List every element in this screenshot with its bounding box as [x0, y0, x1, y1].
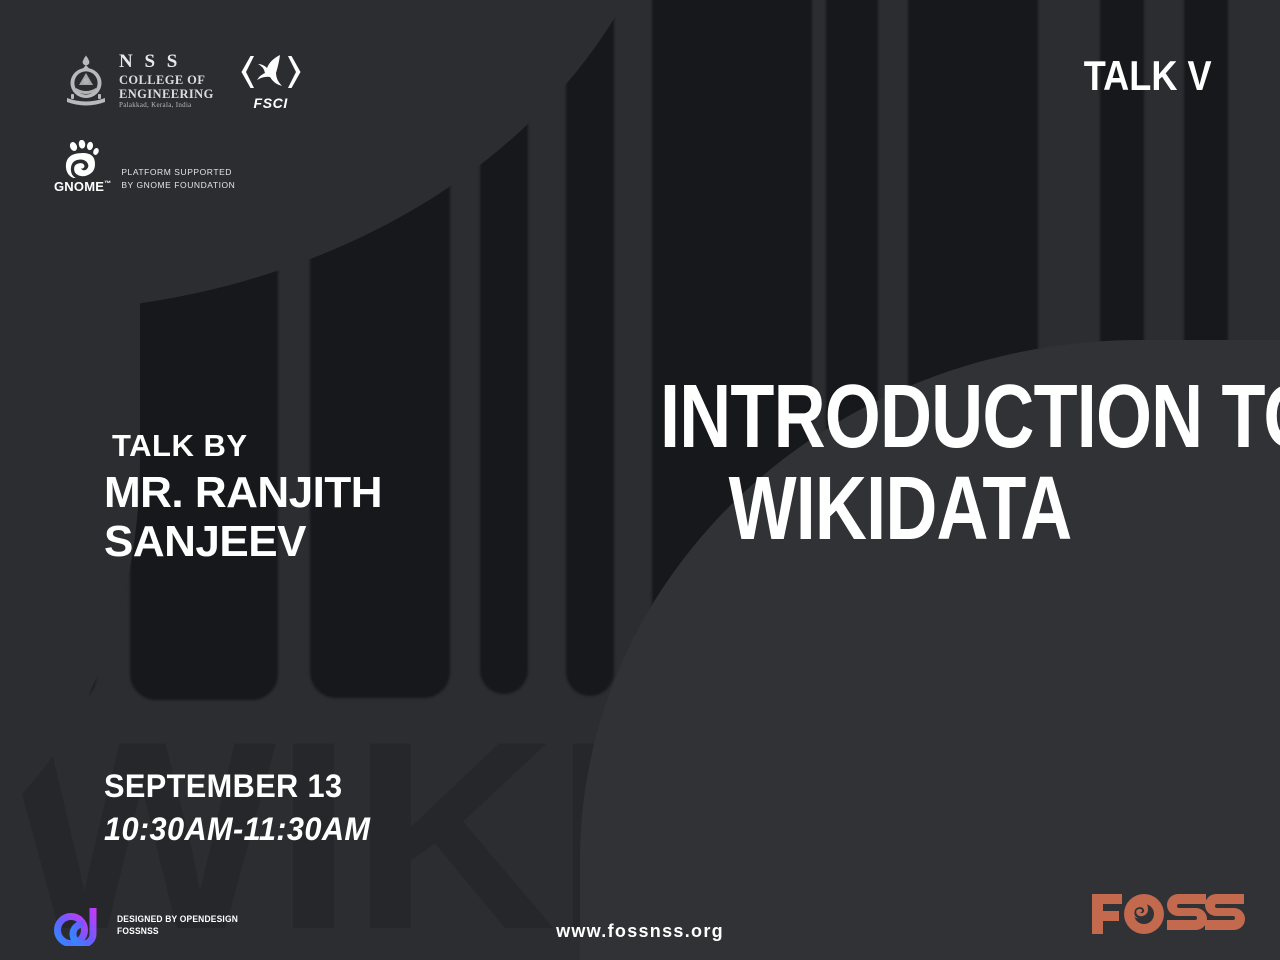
gnome-logo: GNOME™ — [54, 140, 111, 194]
speaker-name: MR. RANJITH SANJEEV — [104, 468, 382, 567]
title-line-2: WIKIDATA — [660, 464, 1140, 556]
gnome-support-line-1: PLATFORM SUPPORTED — [121, 166, 235, 178]
event-date: SEPTEMBER 13 — [104, 768, 370, 805]
nss-dept: ENGINEERING — [119, 88, 214, 101]
fsci-logo: FSCI — [240, 50, 302, 111]
poster-content: N S S COLLEGE OF ENGINEERING Palakkad, K… — [0, 0, 1280, 960]
event-poster: WIKID — [0, 0, 1280, 960]
gnome-support-text: PLATFORM SUPPORTED BY GNOME FOUNDATION — [121, 166, 235, 194]
event-datetime: SEPTEMBER 13 10:30AM-11:30AM — [104, 768, 382, 848]
fsci-label: FSCI — [254, 95, 288, 111]
fsci-bird-icon — [240, 50, 302, 94]
gnome-foot-icon — [63, 140, 103, 178]
sponsor-logo-row: N S S COLLEGE OF ENGINEERING Palakkad, K… — [62, 50, 302, 111]
title-line-1: INTRODUCTION TO — [660, 372, 1140, 464]
nss-college-logo: N S S COLLEGE OF ENGINEERING Palakkad, K… — [62, 52, 214, 109]
page-title: INTRODUCTION TO WIKIDATA — [660, 372, 1140, 556]
speaker-name-line-2: SANJEEV — [104, 517, 382, 566]
nss-location: Palakkad, Kerala, India — [119, 102, 214, 109]
talk-number-badge: TALK V — [1084, 52, 1212, 100]
speaker-block: TALK BY MR. RANJITH SANJEEV — [104, 428, 382, 567]
gnome-sponsor: GNOME™ PLATFORM SUPPORTED BY GNOME FOUND… — [54, 140, 235, 194]
nss-logo-text: N S S COLLEGE OF ENGINEERING Palakkad, K… — [119, 52, 214, 109]
nss-name: N S S — [119, 52, 214, 71]
gnome-label: GNOME™ — [54, 179, 111, 194]
nss-college: COLLEGE OF — [119, 74, 214, 87]
foss-wordmark-icon — [1088, 882, 1248, 946]
speaker-name-line-1: MR. RANJITH — [104, 468, 382, 517]
speaker-label: TALK BY — [112, 428, 382, 464]
gnome-support-line-2: BY GNOME FOUNDATION — [121, 179, 235, 191]
nss-emblem-icon — [62, 54, 110, 108]
event-time: 10:30AM-11:30AM — [104, 811, 370, 848]
